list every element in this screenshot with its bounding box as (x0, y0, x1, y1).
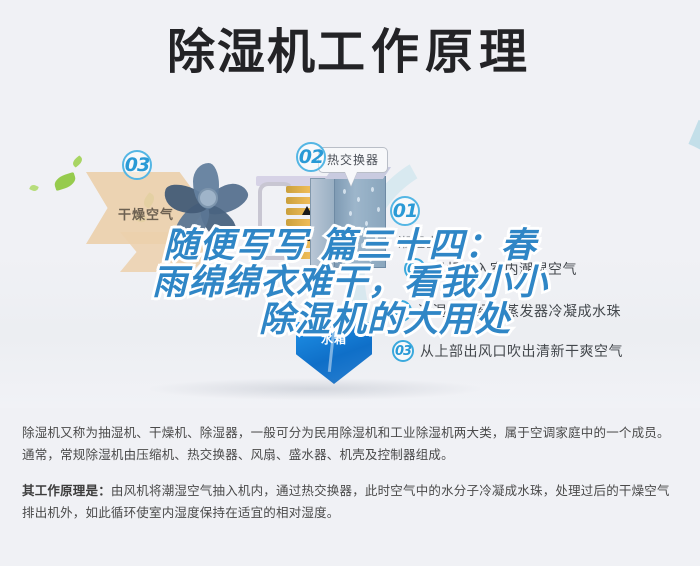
leaf-icon (71, 155, 84, 167)
step-badge-03: 03 (122, 150, 152, 180)
heat-exchanger-block (334, 176, 386, 268)
humid-air-label: 潮湿空气 (398, 232, 454, 251)
step-text-02: 潮湿空气经过蒸发器冷凝成水珠 (418, 301, 621, 321)
article-paragraph-2: 其工作原理是：由风机将潮湿空气抽入机内，通过热交换器，此时空气中的水分子冷凝成水… (22, 480, 678, 524)
step-description-03: 03 从上部出风口吹出清新干爽空气 (392, 340, 623, 362)
article-paragraph-2-body: 由风机将潮湿空气抽入机内，通过热交换器，此时空气中的水分子冷凝成水珠，处理过后的… (22, 483, 670, 520)
dry-air-label: 干燥空气 (118, 204, 174, 223)
leaf-icon (29, 184, 39, 193)
step-description-01: 01 风机吸入室内潮湿空气 (404, 258, 577, 280)
article-paragraph-1: 除湿机又称为抽湿机、干燥机、除湿器，一般可分为民用除湿机和工业除湿机两大类，属于… (22, 422, 678, 466)
fan-icon (172, 164, 264, 262)
step-text-01: 风机吸入室内潮湿空气 (432, 259, 577, 279)
step-number-03: 03 (392, 340, 414, 362)
page-title: 除湿机工作原理 (0, 26, 700, 80)
condensation-drops-icon (335, 177, 385, 267)
fan-hub (198, 188, 218, 208)
article-body: 除湿机又称为抽湿机、干燥机、除湿器，一般可分为民用除湿机和工业除湿机两大类，属于… (0, 408, 700, 566)
step-description-02: 02 潮湿空气经过蒸发器冷凝成水珠 (390, 300, 621, 322)
unit-ground-shadow (150, 378, 480, 400)
step-number-01: 01 (404, 258, 426, 280)
article-paragraph-2-lead: 其工作原理是： (22, 483, 111, 498)
step-badge-01: 01 (390, 196, 420, 226)
step-number-02: 02 (390, 300, 412, 322)
leaf-icon (53, 172, 78, 191)
heat-exchanger-callout: 热交换器 (318, 147, 388, 173)
heat-exchanger-fin-side (310, 178, 336, 268)
page-title-part2: 工作原理 (317, 24, 533, 80)
page-title-part1: 除湿机 (167, 24, 317, 80)
water-tank-label: 水箱 (296, 330, 372, 347)
step-text-03: 从上部出风口吹出清新干爽空气 (420, 341, 623, 361)
step-badge-02: 02 (296, 142, 326, 172)
infographic-hero: 除湿机工作原理 干燥空气 (0, 0, 700, 408)
